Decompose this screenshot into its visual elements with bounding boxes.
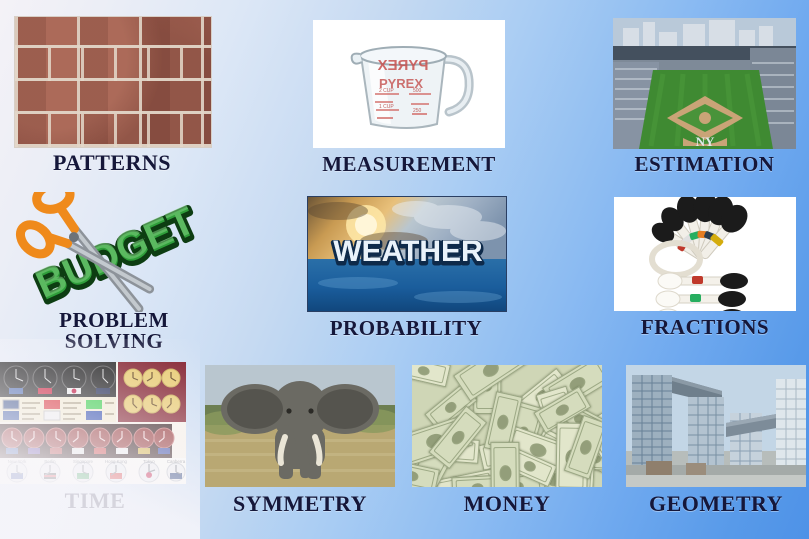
measuring-cup-image: PYREX PYREX 2 CUP1 CUP 500250 <box>313 20 505 148</box>
svg-text:Canberra: Canberra <box>167 459 186 464</box>
math-topics-slide: PATTERNS PYREX PYREX <box>0 0 809 539</box>
tile-label-fractions: FRACTIONS <box>614 317 796 338</box>
tile-symmetry[interactable]: SYMMETRY <box>205 365 395 539</box>
tile-label-geometry: GEOMETRY <box>626 493 806 515</box>
tile-problem-solving[interactable]: BUDGET BUDGET BUDGET <box>14 192 214 360</box>
tile-label-measurement: MEASUREMENT <box>313 154 505 175</box>
tile-label-time: TIME <box>0 490 190 512</box>
tile-probability[interactable]: WEATHER WEATHER WEATHER PROBABILITY <box>307 196 505 356</box>
svg-text:2 CUP: 2 CUP <box>379 88 394 94</box>
tile-label-symmetry: SYMMETRY <box>205 493 395 515</box>
svg-text:Singapore: Singapore <box>73 459 94 464</box>
tile-estimation[interactable]: NY ESTIMATION <box>613 18 796 192</box>
svg-text:Hong Kong: Hong Kong <box>105 459 128 464</box>
tile-patterns[interactable]: PATTERNS <box>14 16 210 188</box>
elephant-image <box>205 365 395 487</box>
tile-fractions[interactable]: FRACTIONS <box>614 197 796 357</box>
tile-label-money: MONEY <box>412 493 602 515</box>
measuring-spoons-image <box>614 197 796 311</box>
tile-measurement[interactable]: PYREX PYREX 2 CUP1 CUP 500250 MEASUREMEN… <box>313 20 505 192</box>
tile-geometry[interactable]: GEOMETRY <box>626 365 806 539</box>
tile-label-patterns: PATTERNS <box>14 152 210 174</box>
scissors-cutting-budget-image: BUDGET BUDGET BUDGET <box>14 192 214 312</box>
svg-text:500: 500 <box>413 88 422 94</box>
banknote <box>491 442 520 487</box>
weather-graphic-image: WEATHER WEATHER WEATHER <box>307 196 507 312</box>
tile-label-estimation: ESTIMATION <box>613 154 796 175</box>
dollar-bills-image <box>412 365 602 487</box>
svg-text:250: 250 <box>413 108 422 114</box>
tile-label-probability: PROBABILITY <box>307 318 505 339</box>
svg-text:NY: NY <box>696 134 715 149</box>
banknote <box>412 365 451 387</box>
svg-text:Tokyo: Tokyo <box>143 459 155 464</box>
svg-text:PYREX: PYREX <box>378 57 429 74</box>
buildings-image <box>626 365 806 487</box>
tile-time[interactable]: New YorkBerlinSingapore Hong KongTokyoCa… <box>0 362 190 539</box>
baseball-stadium-image: NY <box>613 18 796 149</box>
svg-text:1 CUP: 1 CUP <box>379 104 394 110</box>
brick-wall-image <box>14 16 212 148</box>
svg-text:Berlin: Berlin <box>44 459 56 464</box>
svg-text:WEATHER: WEATHER <box>333 235 483 268</box>
tile-money[interactable]: MONEY <box>412 365 602 539</box>
world-clocks-collage-image: New YorkBerlinSingapore Hong KongTokyoCa… <box>0 362 186 484</box>
svg-text:New York: New York <box>8 459 27 464</box>
tile-label-problem-solving: PROBLEM SOLVING <box>14 310 214 353</box>
